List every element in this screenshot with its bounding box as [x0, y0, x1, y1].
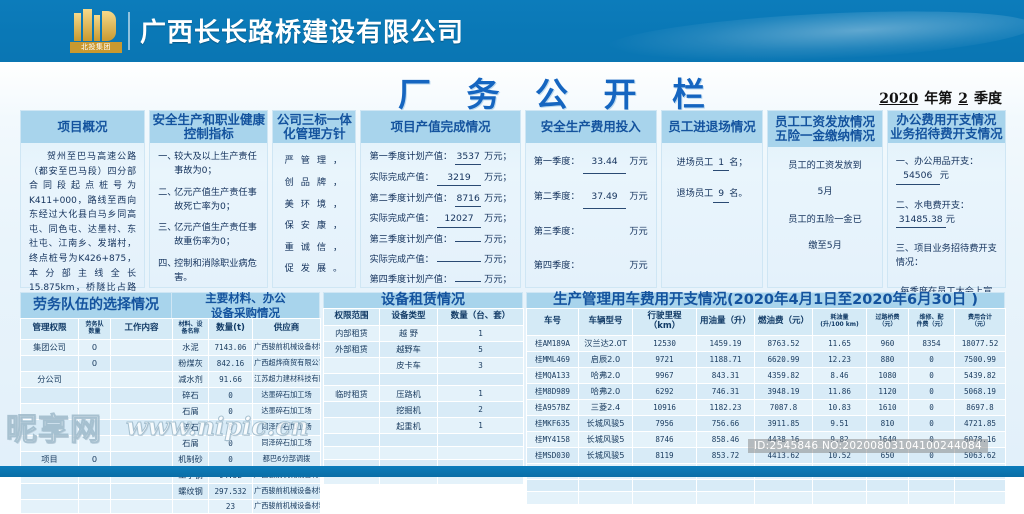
table-cell: 广西骏前机械设备材料有限公司: [253, 339, 321, 355]
footer-band: [0, 466, 1024, 477]
quarter-year-suffix: 年第: [924, 91, 952, 107]
table-cell: 哈弗2.0: [579, 383, 633, 399]
policy-line: 严 管 理 ，: [281, 150, 347, 172]
table-cell: [755, 492, 813, 505]
output-row: 第一季度计划产值：3537万元；: [369, 150, 511, 165]
item-number: 三、: [158, 221, 174, 250]
row-label: 进场员工: [676, 157, 713, 168]
table-cell: [813, 492, 867, 505]
output-row: 实际完成产值：万元；: [369, 253, 511, 267]
table-cell: 1: [438, 325, 524, 341]
table-cell: 减水剂: [173, 371, 209, 387]
table-cell: [21, 499, 79, 513]
block-equipment-rental: 设备租赁情况 权限范围 设备类型 数量（台、套） 内部租赁越 野1外部租赁越野车…: [323, 292, 523, 458]
table-cell: [324, 357, 380, 373]
table-cell: [955, 492, 1006, 505]
row-label: 第二季度计划产值：: [369, 192, 452, 206]
table-cell: 1: [438, 386, 524, 402]
office-item-row: 三、项目业务招待费开支情况：: [896, 242, 997, 271]
row-value: 3219: [437, 171, 481, 186]
table-cell: 8697.8: [955, 399, 1006, 415]
row-unit: 万元: [629, 185, 647, 208]
table-cell: [579, 492, 633, 505]
row-label: 第四季度计划产值：: [369, 273, 452, 287]
table-cell: 842.16: [209, 355, 253, 371]
table-cell: [79, 483, 111, 499]
table-row: 碎石0达墨碎石加工场: [21, 387, 321, 403]
table-cell: 0: [909, 399, 955, 415]
table-cell: 桂A957BZ: [527, 399, 579, 415]
table-row: 桂MML469启辰2.097211188.716620.9912.2388007…: [527, 351, 1006, 367]
table-cell: 桂MKF635: [527, 415, 579, 431]
table-cell: [111, 403, 173, 419]
table-cell: 11.65: [813, 335, 867, 351]
table-row: 23广西骏前机械设备材料有限公司: [21, 499, 321, 513]
expense-row: 第三季度：万元: [534, 220, 648, 243]
item-number: 四、: [158, 257, 174, 286]
table-cell: 7956: [633, 415, 697, 431]
table-cell: [173, 499, 209, 513]
item-text: 控制和消除职业病危害。: [174, 257, 259, 286]
row-value: 12027: [437, 212, 481, 227]
policy-line: 促 发 展 。: [281, 258, 347, 280]
row-value: 31485.38: [896, 213, 946, 228]
row-label: 第一季度计划产值：: [369, 150, 452, 164]
info-cards-row: 项目概况 贺州至巴马高速公路（都安至巴马段）四分部合同段起点桩号为K411+00…: [20, 110, 1006, 288]
table-cell: 12.23: [813, 351, 867, 367]
table-cell: 桂MML469: [527, 351, 579, 367]
table-cell: [438, 373, 524, 386]
table-cell: 桂MY4158: [527, 431, 579, 447]
table-cell: [21, 403, 79, 419]
logo-subtitle: 北投集团: [70, 42, 122, 53]
table-cell: 三菱2.4: [579, 399, 633, 415]
col-equip-qty: 数量（台、套）: [438, 309, 524, 326]
col-material-name-l2: 备名称: [174, 329, 207, 336]
output-row: 实际完成产值：12027万元；: [369, 212, 511, 227]
quarter-line: 2020年第2季度: [873, 88, 1002, 108]
table-cell: 6292: [633, 383, 697, 399]
col-total-sub: （元）: [956, 322, 1004, 329]
row-value: [455, 241, 481, 242]
table-cell: [21, 355, 79, 371]
col-auth: 管理权限: [21, 319, 79, 340]
card-body-staff-movement: 进场员工1名； 退场员工9名。: [662, 143, 763, 287]
salary-month-unit: 月: [823, 186, 832, 197]
table-cell: 1120: [867, 383, 909, 399]
card-body-safety-indicators: 一、较大及以上生产责任事故为0； 二、亿元产值生产责任事故死亡率为0； 三、亿元…: [150, 143, 267, 299]
table-cell: 91.66: [209, 371, 253, 387]
card-management-policy: 公司三标一体化管理方针 严 管 理 ， 创 品 牌 ， 美 环 境 ， 保 安 …: [272, 110, 356, 288]
card-staff-movement: 员工进退场情况 进场员工1名； 退场员工9名。: [661, 110, 764, 288]
card-title-project-overview: 项目概况: [21, 111, 144, 143]
block-labor-material: 劳务队伍的选择情况 主要材料、办公 设备采购情况 管理权限 劳务队数量 工作内容…: [20, 292, 320, 458]
table-row: [324, 434, 524, 447]
table-cell: [867, 479, 909, 492]
table-row: 集团公司0水泥7143.06广西骏前机械设备材料有限公司: [21, 339, 321, 355]
card-title-safety-indicators: 安全生产和职业健康控制指标: [150, 111, 267, 143]
card-title-staff-movement: 员工进退场情况: [662, 111, 763, 143]
col-total: 费用合计（元）: [955, 309, 1006, 336]
table-cell: 临时租赁: [324, 386, 380, 402]
table-cell: 960: [867, 335, 909, 351]
table-cell: 11.86: [813, 383, 867, 399]
table-row: 0粉煤灰842.16广西超烨商贸有限公司: [21, 355, 321, 371]
table-cell: [380, 434, 438, 447]
table-cell: 8763.52: [755, 335, 813, 351]
table-cell: [438, 446, 524, 459]
row-label: 三、项目业务招待费开支情况：: [896, 243, 997, 268]
table-cell: 810: [867, 415, 909, 431]
staff-in-row: 进场员工1名；: [670, 156, 755, 171]
table-cell: 广西超烨商贸有限公司: [253, 355, 321, 371]
row-label: 第三季度：: [534, 220, 580, 243]
list-item: 三、亿元产值生产责任事故重伤率为0；: [158, 221, 259, 250]
table-row: [527, 479, 1006, 492]
table-cell: 0: [209, 435, 253, 451]
table-equipment-rental: 权限范围 设备类型 数量（台、套） 内部租赁越 野1外部租赁越野车5皮卡车3临时…: [323, 308, 524, 485]
table-cell: [579, 479, 633, 492]
table-cell: [21, 419, 79, 435]
table-cell: 长城风骏5: [579, 431, 633, 447]
row-label: 第四季度：: [534, 254, 580, 277]
row-unit: 万元；: [484, 171, 512, 185]
salary-text: 员工的工资发放到: [776, 159, 873, 173]
card-office-expense: 办公费用开支情况 业务招待费开支情况 一、办公用品开支：54506元 二、水电费…: [887, 110, 1006, 288]
table-cell: 18077.52: [955, 335, 1006, 351]
expense-row: 第一季度：33.44万元: [534, 150, 648, 174]
table-cell: 水泥: [173, 339, 209, 355]
col-mileage: 行驶里程（km）: [633, 309, 697, 336]
table-cell: 集团公司: [21, 339, 79, 355]
table-row: 项目0机制砂0都巴6分部调拨: [21, 451, 321, 467]
table-cell: 起重机: [380, 418, 438, 434]
table-cell: 7143.06: [209, 339, 253, 355]
table-cell: [111, 387, 173, 403]
table-cell: 3: [438, 357, 524, 373]
table-cell: [79, 419, 111, 435]
table-row: 桂M8D989哈弗2.06292746.313948.1911.86112005…: [527, 383, 1006, 399]
table-cell: [79, 371, 111, 387]
table-cell: [111, 499, 173, 513]
table-cell: 项目: [21, 451, 79, 467]
row-unit: 万元；: [484, 273, 512, 287]
table-cell: [697, 479, 755, 492]
expense-row: 第二季度：37.49万元: [534, 185, 648, 209]
row-value: 1: [713, 156, 729, 171]
row-unit: 名；: [729, 157, 747, 168]
row-value: 33.44: [583, 150, 627, 174]
col-consumption: 耗油量(升/100 km): [813, 309, 867, 336]
row-label: 第二季度：: [534, 185, 580, 208]
table-cell: 石屑: [173, 435, 209, 451]
row-unit: 万元: [629, 254, 647, 277]
table-cell: 长城风骏5: [579, 447, 633, 463]
table-cell: 6620.99: [755, 351, 813, 367]
table-cell: [324, 373, 380, 386]
row-unit: 万元: [629, 150, 647, 173]
table-row: 螺纹钢297.532广西骏前机械设备材料有限公司: [21, 483, 321, 499]
quarter-year: 2020: [873, 91, 924, 107]
table-cell: [324, 418, 380, 434]
header-gloss-decoration: [603, 3, 1024, 62]
table-cell: 皮卡车: [380, 357, 438, 373]
table-cell: 3911.85: [755, 415, 813, 431]
table-row: 碎石0同泽碎石加工场: [21, 419, 321, 435]
table-row: 起重机1: [324, 418, 524, 434]
table-cell: 8.46: [813, 367, 867, 383]
output-row: 实际完成产值：3219万元；: [369, 171, 511, 186]
table-cell: [79, 435, 111, 451]
row-label: 二、水电费开支：: [896, 200, 970, 211]
table-cell: [909, 492, 955, 505]
card-title-safety-expense: 安全生产费用投入: [526, 111, 656, 143]
policy-line: 创 品 牌 ，: [281, 172, 347, 194]
table-cell: 880: [867, 351, 909, 367]
table-cell: 压路机: [380, 386, 438, 402]
table-cell: 同泽碎石加工场: [253, 435, 321, 451]
table-cell: 挖掘机: [380, 402, 438, 418]
table-cell: 9967: [633, 367, 697, 383]
table-row: [324, 373, 524, 386]
col-material-name: 材料、设备名称: [173, 319, 209, 340]
row-value: 3537: [455, 150, 481, 165]
col-labor-count-l2: 数量: [80, 329, 109, 336]
table-cell: 广西骏前机械设备材料有限公司: [253, 483, 321, 499]
col-model: 车辆型号: [579, 309, 633, 336]
table-cell: 4359.82: [755, 367, 813, 383]
table-cell: 9721: [633, 351, 697, 367]
table-row: 挖掘机2: [324, 402, 524, 418]
table-cell: [955, 479, 1006, 492]
row-unit: 万元；: [484, 192, 512, 206]
table-cell: 9.51: [813, 415, 867, 431]
insurance-month-row: 缴至5月: [776, 239, 873, 253]
table-cell: 内部租赁: [324, 325, 380, 341]
row-unit: 万元；: [484, 253, 512, 267]
row-unit: 万元；: [484, 233, 512, 247]
table-cell: 4721.85: [955, 415, 1006, 431]
table-cell: 同泽碎石加工场: [253, 419, 321, 435]
table-cell: 汉兰达2.0T: [579, 335, 633, 351]
block-vehicle-expense: 生产管理用车费用开支情况(2020年4月1日至2020年6月30日 ) 车号 车…: [526, 292, 1005, 458]
table-cell: 1: [438, 418, 524, 434]
col-labor-count: 劳务队数量: [79, 319, 111, 340]
table-row: 石屑0达墨碎石加工场: [21, 403, 321, 419]
row-label: 实际完成产值：: [369, 212, 433, 226]
col-consumption-sub: (升/100 km): [814, 322, 865, 329]
output-row: 第四季度计划产值：万元；: [369, 273, 511, 287]
insurance-text: 员工的五险一金已: [776, 213, 873, 227]
table-row: 皮卡车3: [324, 357, 524, 373]
item-number: 一、: [158, 150, 174, 179]
table-cell: [111, 371, 173, 387]
card-salary-insurance: 员工工资发放情况 五险一金缴纳情况 员工的工资发放到 5月 员工的五险一金已 缴…: [767, 110, 882, 288]
table-cell: [21, 387, 79, 403]
table-cell: 碎石: [173, 387, 209, 403]
table-cell: 23: [209, 499, 253, 513]
policy-line: 美 环 境 ，: [281, 194, 347, 216]
table-cell: 8354: [909, 335, 955, 351]
section-title-line1: 主要材料、办公: [205, 291, 286, 306]
table-cell: [380, 446, 438, 459]
table-cell: [380, 373, 438, 386]
table-cell: 0: [209, 419, 253, 435]
table-row: 临时租赁压路机1: [324, 386, 524, 402]
row-unit: 元: [946, 214, 955, 225]
table-cell: 1459.19: [697, 335, 755, 351]
item-number: 二、: [158, 186, 174, 215]
table-cell: 启辰2.0: [579, 351, 633, 367]
card-title-management-policy: 公司三标一体化管理方针: [273, 111, 355, 143]
table-cell: [813, 479, 867, 492]
table-cell: 853.72: [697, 447, 755, 463]
table-cell: 机制砂: [173, 451, 209, 467]
table-cell: [79, 387, 111, 403]
row-value: 8716: [455, 192, 481, 207]
table-cell: 0: [909, 351, 955, 367]
col-toll: 过路桥费（元）: [867, 309, 909, 336]
row-unit: 元: [940, 170, 949, 181]
list-item: 二、亿元产值生产责任事故死亡率为0；: [158, 186, 259, 215]
insurance-month-unit: 月: [833, 240, 842, 251]
table-cell: 297.532: [209, 483, 253, 499]
card-title-line1: 办公费用开支情况: [896, 113, 996, 127]
policy-line: 保 安 康 ，: [281, 215, 347, 237]
card-title-line1: 员工工资发放情况: [775, 115, 875, 129]
table-cell: 746.31: [697, 383, 755, 399]
section-title-vehicle: 生产管理用车费用开支情况(2020年4月1日至2020年6月30日 ): [526, 292, 1005, 308]
table-cell: [697, 492, 755, 505]
table-cell: 桂M8D989: [527, 383, 579, 399]
table-cell: 粉煤灰: [173, 355, 209, 371]
quarter-number: 2: [952, 91, 974, 107]
table-cell: [527, 479, 579, 492]
logo-mark-icon: [73, 9, 119, 41]
table-cell: 5439.82: [955, 367, 1006, 383]
section-title-labor: 劳务队伍的选择情况: [20, 292, 172, 318]
section-title-material: 主要材料、办公 设备采购情况: [172, 292, 320, 318]
table-row: 外部租赁越野车5: [324, 341, 524, 357]
table-cell: 10.83: [813, 399, 867, 415]
card-title-line2: 五险一金缴纳情况: [775, 129, 875, 143]
table-cell: 1080: [867, 367, 909, 383]
poster-body: 厂 务 公 开 栏 2020年第2季度 项目概况 贺州至巴马高速公路（都安至巴马…: [0, 62, 1024, 466]
table-cell: [438, 434, 524, 447]
table-cell: 桂MSD030: [527, 447, 579, 463]
table-cell: [867, 492, 909, 505]
table-cell: 达墨碎石加工场: [253, 387, 321, 403]
table-cell: [111, 435, 173, 451]
policy-line: 重 诚 信 ，: [281, 237, 347, 259]
col-work-content: 工作内容: [111, 319, 173, 340]
row-label: 一、办公用品开支：: [896, 156, 979, 167]
table-row: 桂MKF635长城风骏57956756.663911.859.518100472…: [527, 415, 1006, 431]
table-cell: [324, 434, 380, 447]
col-toll-sub: （元）: [868, 322, 907, 329]
card-title-salary-insurance: 员工工资发放情况 五险一金缴纳情况: [768, 111, 881, 147]
table-cell: 石屑: [173, 403, 209, 419]
table-cell: 858.46: [697, 431, 755, 447]
card-project-overview: 项目概况 贺州至巴马高速公路（都安至巴马段）四分部合同段起点桩号为K411+00…: [20, 110, 145, 288]
staff-out-row: 退场员工9名。: [670, 187, 755, 202]
table-row: [527, 492, 1006, 505]
table-cell: 5068.19: [955, 383, 1006, 399]
table-cell: 外部租赁: [324, 341, 380, 357]
table-cell: [909, 479, 955, 492]
row-value: 54506: [896, 169, 940, 184]
table-cell: 0: [209, 387, 253, 403]
table-cell: [111, 355, 173, 371]
table-cell: 1610: [867, 399, 909, 415]
table-cell: 0: [79, 339, 111, 355]
table-cell: 843.31: [697, 367, 755, 383]
row-unit: 名。: [729, 188, 747, 199]
table-cell: 1188.71: [697, 351, 755, 367]
table-cell: 螺纹钢: [173, 483, 209, 499]
row-unit: 万元；: [484, 150, 512, 164]
quarter-suffix: 季度: [974, 91, 1002, 107]
table-cell: 0: [79, 355, 111, 371]
table-cell: [111, 339, 173, 355]
table-row: 内部租赁越 野1: [324, 325, 524, 341]
row-value: [455, 281, 481, 282]
table-cell: 哈弗2.0: [579, 367, 633, 383]
table-cell: [111, 419, 173, 435]
card-title-line2: 业务招待费开支情况: [890, 127, 1003, 141]
table-cell: [21, 435, 79, 451]
col-plate: 车号: [527, 309, 579, 336]
col-scope: 权限范围: [324, 309, 380, 326]
col-fuel-liters: 用油量（升）: [697, 309, 755, 336]
insurance-label: 缴至: [808, 240, 826, 251]
row-value: 9: [713, 187, 729, 202]
expense-row: 第四季度：万元: [534, 254, 648, 277]
item-text: 亿元产值生产责任事故重伤率为0；: [174, 221, 259, 250]
salary-month-row: 5月: [776, 185, 873, 199]
company-logo: 北投集团: [70, 9, 122, 55]
card-safety-expense: 安全生产费用投入 第一季度：33.44万元 第二季度：37.49万元 第三季度：…: [525, 110, 657, 288]
table-row: 桂A957BZ三菱2.4109161182.237087.810.8316100…: [527, 399, 1006, 415]
table-cell: 8119: [633, 447, 697, 463]
office-item-row: 二、水电费开支：31485.38元: [896, 199, 997, 229]
table-cell: 3948.19: [755, 383, 813, 399]
output-row: 第三季度计划产值：万元；: [369, 233, 511, 247]
table-cell: [79, 403, 111, 419]
table-cell: 桂AM189A: [527, 335, 579, 351]
col-repair-sub: 件费（元）: [910, 322, 953, 329]
item-text: 亿元产值生产责任事故死亡率为0；: [174, 186, 259, 215]
table-cell: 江苏超力建材科技有限公司: [253, 371, 321, 387]
table-cell: [79, 499, 111, 513]
list-item: 四、控制和消除职业病危害。: [158, 257, 259, 286]
col-equip-type: 设备类型: [380, 309, 438, 326]
page-title: 厂 务 公 开 栏: [398, 68, 717, 116]
row-unit: 万元: [629, 220, 647, 243]
list-item: 一、较大及以上生产责任事故为0；: [158, 150, 259, 179]
company-header-band: 北投集团 广西长长路桥建设有限公司: [0, 0, 1024, 62]
company-name: 广西长长路桥建设有限公司: [140, 12, 464, 49]
output-row: 第二季度计划产值：8716万元；: [369, 192, 511, 207]
table-cell: 越 野: [380, 325, 438, 341]
table-row: 分公司减水剂91.66江苏超力建材科技有限公司: [21, 371, 321, 387]
table-cell: 0: [79, 451, 111, 467]
image-id-tag: ID:2545846 NO:20200803104100244084: [748, 439, 988, 453]
card-output-value: 项目产值完成情况 第一季度计划产值：3537万元； 实际完成产值：3219万元；…: [360, 110, 520, 288]
office-item-row: 一、办公用品开支：54506元: [896, 155, 997, 185]
table-cell: 碎石: [173, 419, 209, 435]
table-cell: 12530: [633, 335, 697, 351]
